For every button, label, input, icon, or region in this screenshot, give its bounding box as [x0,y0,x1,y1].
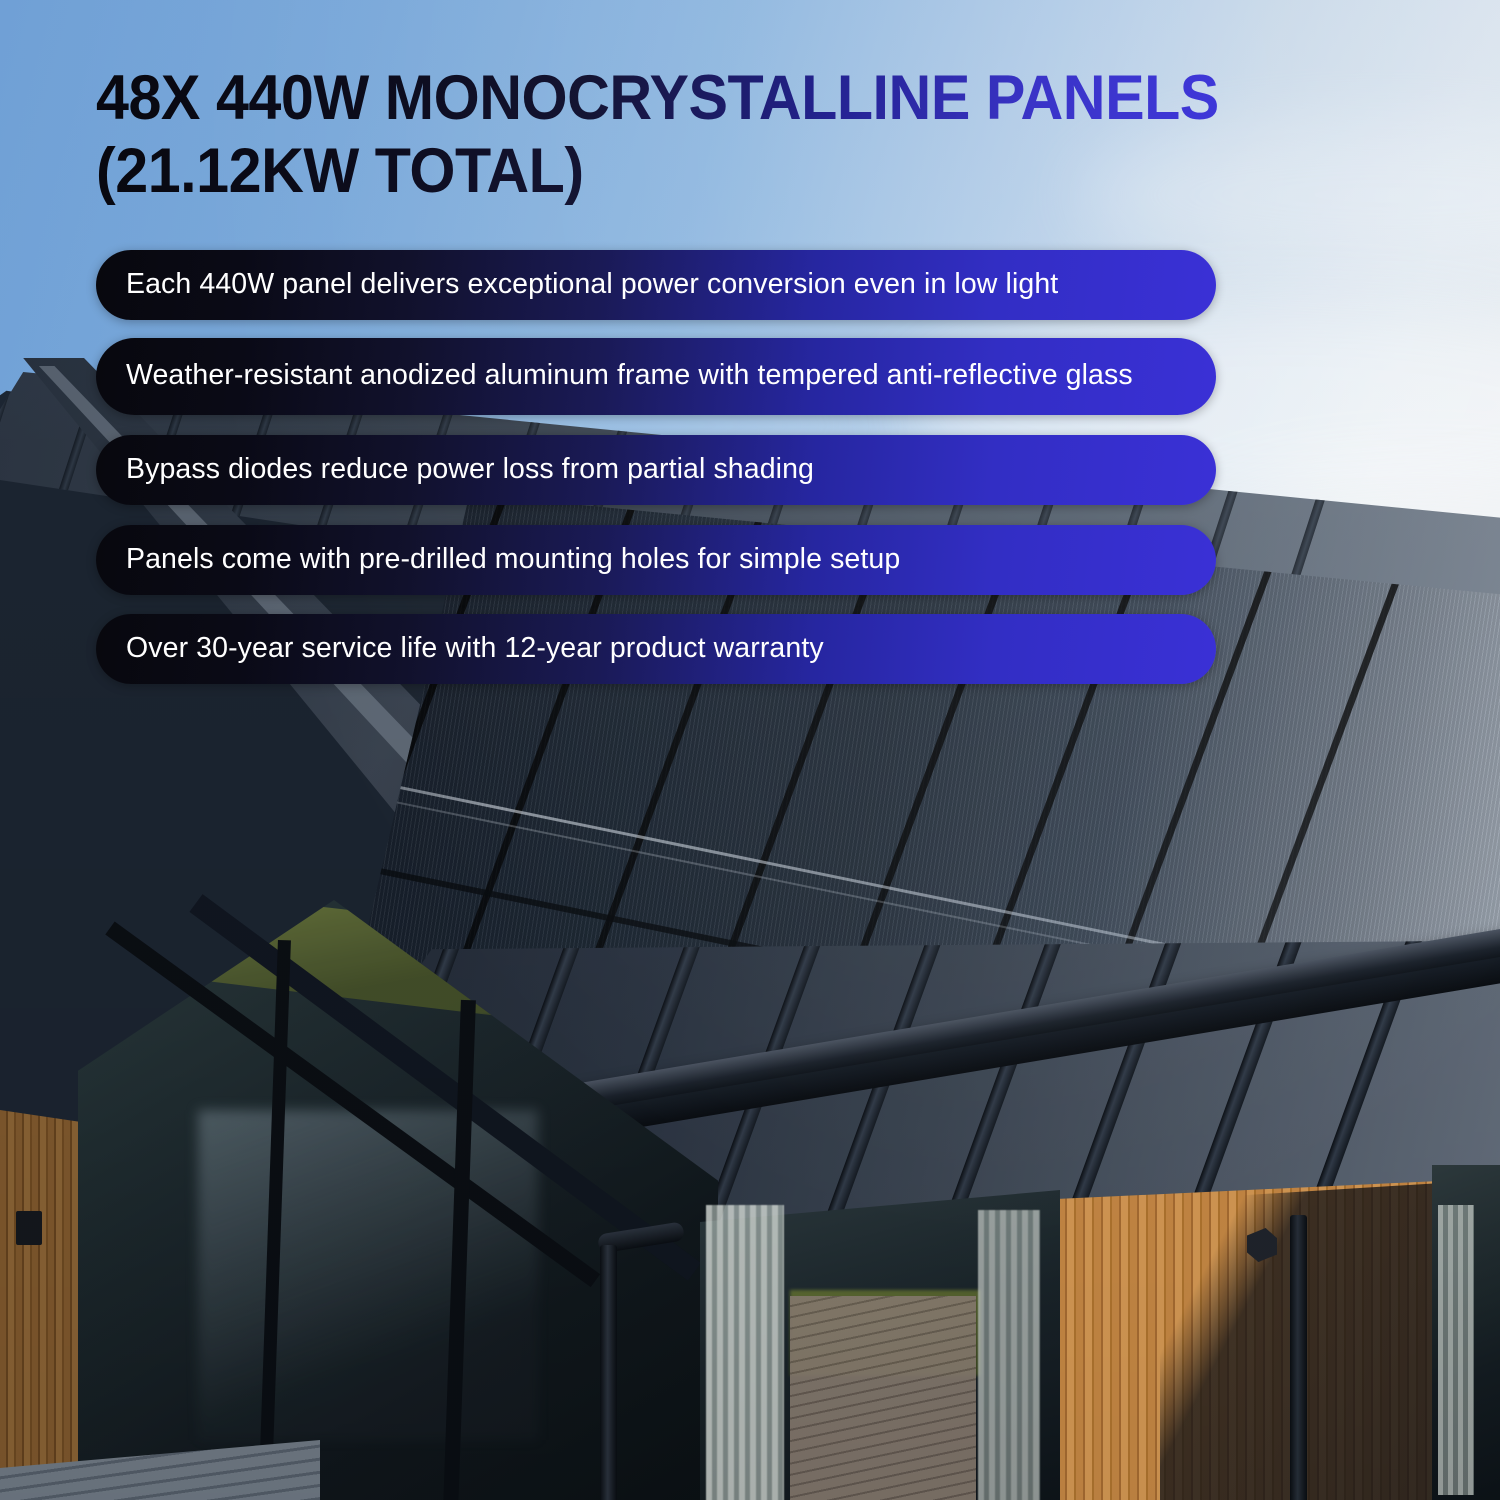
window-curtain [978,1210,1040,1500]
downspout [1290,1215,1307,1500]
feature-list: Each 440W panel delivers exceptional pow… [96,250,1216,700]
exterior-wall-lamp [16,1211,42,1245]
window-curtain [706,1205,784,1500]
infographic-canvas: 48X 440W MONOCRYSTALLINE PANELS (21.12KW… [0,0,1500,1500]
reflected-deck [790,1296,976,1500]
page-title: 48X 440W MONOCRYSTALLINE PANELS (21.12KW… [96,62,1262,208]
hero-photo [0,0,1500,1500]
feature-pill: Each 440W panel delivers exceptional pow… [96,250,1216,320]
feature-pill: Over 30-year service life with 12-year p… [96,614,1216,684]
far-right-glazing [1432,1165,1500,1500]
downspout [600,1245,617,1500]
feature-pill: Panels come with pre-drilled mounting ho… [96,525,1216,595]
feature-pill: Weather-resistant anodized aluminum fram… [96,338,1216,415]
feature-pill: Bypass diodes reduce power loss from par… [96,435,1216,505]
